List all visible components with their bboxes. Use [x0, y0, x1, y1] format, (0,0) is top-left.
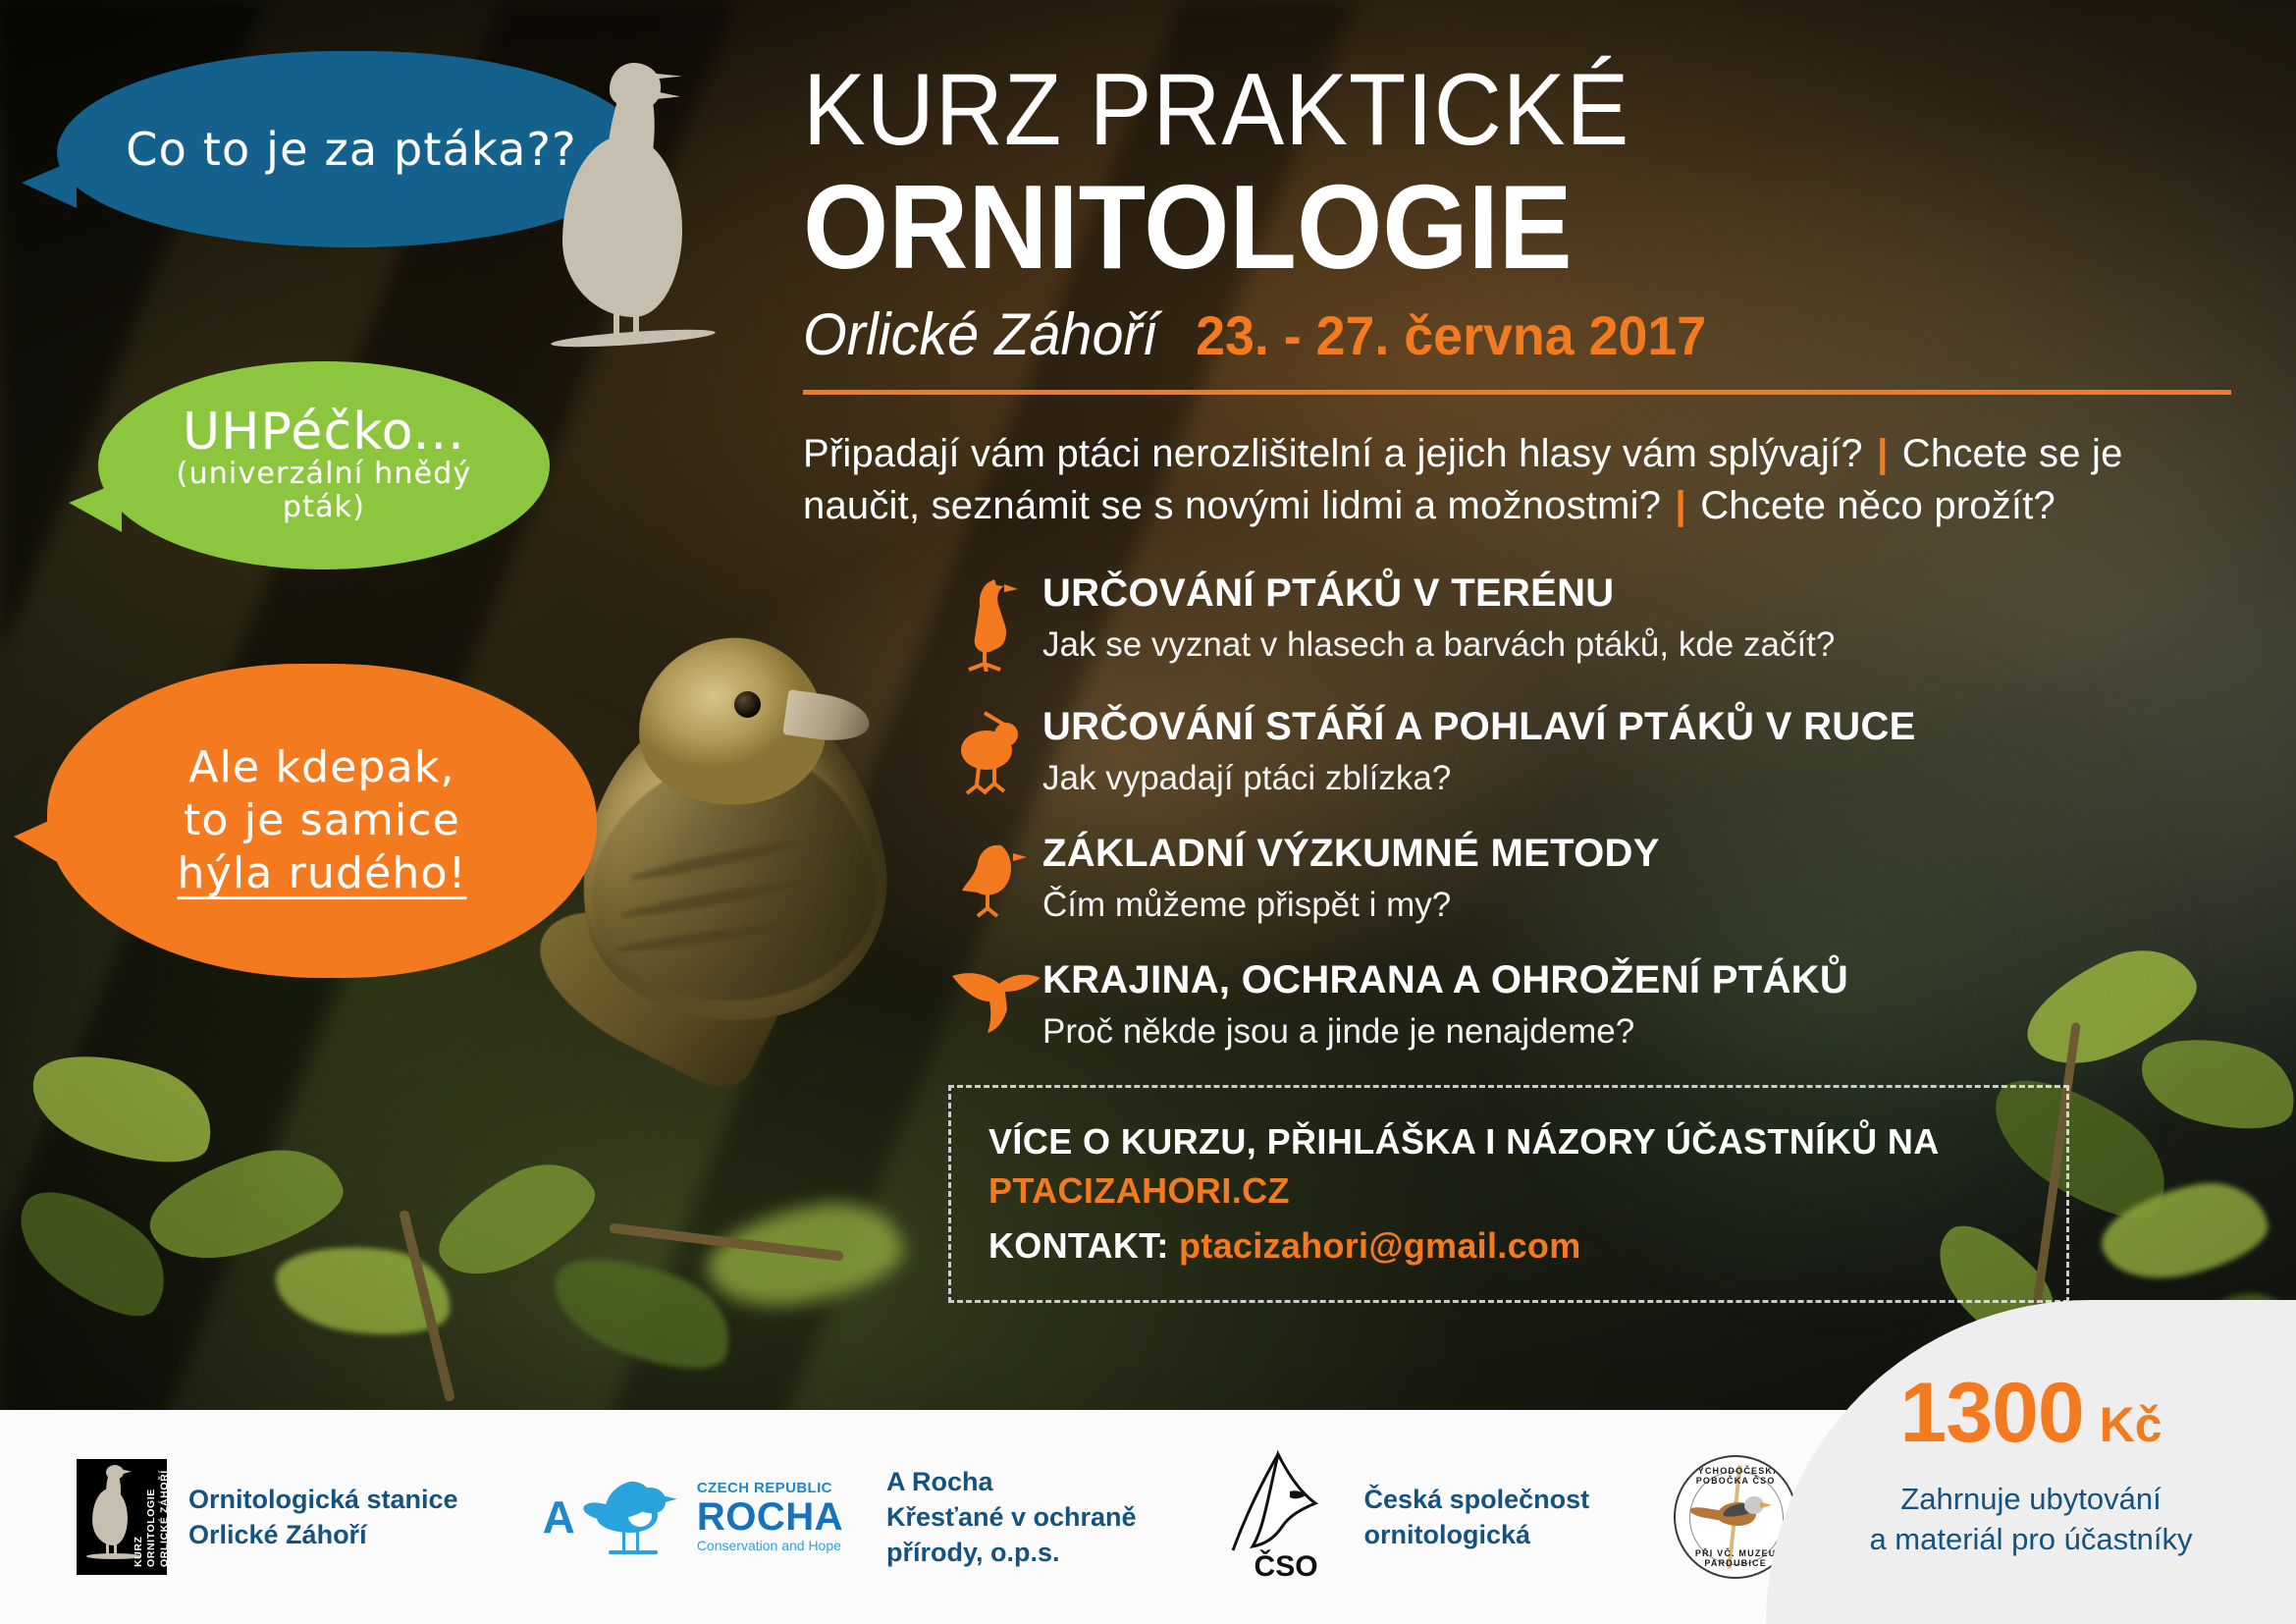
mark-line-1: CZECH REPUBLIC	[697, 1481, 843, 1495]
contact-website[interactable]: PTACIZAHORI.CZ	[988, 1170, 2029, 1212]
content-column: KURZ PRAKTICKÉ ORNITOLOGIE Orlické Záhoř…	[803, 59, 2236, 1303]
mark-vertical-text: KURZ ORNITOLOGIE ORLICKÉ ZÁHOŘÍ	[133, 1467, 162, 1567]
mark-bird-leg	[622, 1529, 625, 1552]
bubble-body: Ale kdepak, to je samice hýla rudého!	[47, 664, 597, 978]
bubble-green-line2: (univerzální hnědý	[177, 458, 472, 492]
a-rocha-wordmark: CZECH REPUBLIC ROCHA Conservation and Ho…	[697, 1481, 843, 1552]
logo-label: Česká společnost ornitologická	[1364, 1482, 1590, 1552]
lead-separator: |	[1672, 484, 1688, 527]
cso-dove-mark: ČSO	[1221, 1448, 1329, 1586]
bird-standing-icon	[948, 571, 1042, 672]
title-block: KURZ PRAKTICKÉ ORNITOLOGIE Orlické Záhoř…	[803, 59, 2236, 368]
medallion-bearded-reedling-icon	[1701, 1492, 1772, 1538]
mark-bird-beak	[1760, 1502, 1772, 1508]
bird-wader-icon	[948, 705, 1042, 795]
logo-label: A Rocha Křesťané v ochraně přírody, o.p.…	[886, 1464, 1137, 1571]
feature-item: KRAJINA, OCHRANA A OHROŽENÍ PTÁKŮ Proč n…	[948, 958, 2236, 1052]
lead-paragraph: Připadají vám ptáci nerozlišitelní a jej…	[803, 428, 2197, 532]
bird-eye	[734, 691, 761, 718]
bubble-orange-line3: hýla rudého!	[178, 847, 467, 900]
mark-line-3: Conservation and Hope	[697, 1539, 843, 1552]
bubble-orange-line1: Ale kdepak,	[188, 741, 454, 794]
logo-a-rocha: A CZECH REPUBLIC ROCHA	[543, 1464, 1137, 1571]
feature-item: URČOVÁNÍ STÁŘÍ A POHLAVÍ PTÁKŮ V RUCE Ja…	[948, 705, 2236, 798]
contact-box: VÍCE O KURZU, PŘIHLÁŠKA I NÁZORY ÚČASTNÍ…	[948, 1085, 2069, 1303]
event-dates: 23. - 27. června 2017	[1196, 303, 1706, 367]
bubble-blue-text: Co to je za ptáka??	[126, 126, 576, 173]
contact-email-row: KONTAKT: ptacizahori@gmail.com	[988, 1225, 2029, 1267]
mark-letter-a: A	[543, 1490, 575, 1543]
a-rocha-bird-icon	[579, 1472, 689, 1562]
mark-line-2: ROCHA	[697, 1497, 843, 1537]
medallion-arc-top-text: VÝCHODOČESKÁ POBOČKA ČSO	[1676, 1466, 1795, 1486]
contact-email[interactable]: ptacizahori@gmail.com	[1179, 1225, 1581, 1266]
footer: KURZ ORNITOLOGIE ORLICKÉ ZÁHOŘÍ Ornitolo…	[0, 1410, 2296, 1624]
feature-subtitle: Proč někde jsou a jinde je nenajdeme?	[1042, 1012, 2236, 1052]
mark-bird-leg	[636, 1529, 639, 1552]
silhouette-head	[610, 63, 661, 108]
poster-root: Co to je za ptáka?? UHPéčko... (univerzá…	[0, 0, 2296, 1624]
orange-divider	[803, 390, 2231, 395]
mark-bird-beak	[120, 1469, 132, 1475]
feature-item: URČOVÁNÍ PTÁKŮ V TERÉNU Jak se vyznat v …	[948, 571, 2236, 672]
bird-perched-icon	[948, 832, 1042, 920]
contact-line-1: VÍCE O KURZU, PŘIHLÁŠKA I NÁZORY ÚČASTNÍ…	[988, 1121, 2029, 1163]
price-amount: 1300	[1899, 1365, 2083, 1462]
logo-label: Ornitologická stanice Orlické Záhoří	[188, 1482, 458, 1552]
contact-email-label: KONTAKT:	[988, 1225, 1169, 1266]
os-orlicke-zahori-mark: KURZ ORNITOLOGIE ORLICKÉ ZÁHOŘÍ	[77, 1459, 167, 1575]
silhouette-leg	[614, 295, 619, 338]
feature-list: URČOVÁNÍ PTÁKŮ V TERÉNU Jak se vyznat v …	[948, 571, 2236, 1052]
bubble-green-line1: UHPéčko...	[183, 406, 465, 458]
speech-bubble-green: UHPéčko... (univerzální hnědý pták)	[98, 361, 550, 569]
title-line-1: KURZ PRAKTICKÉ	[803, 59, 2121, 161]
speech-bubble-orange: Ale kdepak, to je samice hýla rudého!	[47, 664, 597, 978]
header-bird-silhouette-icon	[543, 59, 739, 353]
bird-raptor-icon	[948, 958, 1042, 1037]
feature-heading: ZÁKLADNÍ VÝZKUMNÉ METODY	[1042, 832, 2236, 876]
mark-bird-head	[636, 1488, 666, 1513]
feature-heading: URČOVÁNÍ STÁŘÍ A POHLAVÍ PTÁKŮ V RUCE	[1042, 705, 2236, 749]
feature-heading: URČOVÁNÍ PTÁKŮ V TERÉNU	[1042, 571, 2236, 616]
bubble-body: UHPéčko... (univerzální hnědý pták)	[98, 361, 550, 569]
subtitle-row: Orlické Záhoří 23. - 27. června 2017	[803, 300, 2179, 368]
feature-text: URČOVÁNÍ PTÁKŮ V TERÉNU Jak se vyznat v …	[1042, 571, 2236, 665]
feature-subtitle: Jak vypadají ptáci zblízka?	[1042, 759, 2236, 798]
logo-orlicke-zahori: KURZ ORNITOLOGIE ORLICKÉ ZÁHOŘÍ Ornitolo…	[77, 1459, 458, 1575]
event-place: Orlické Záhoří	[803, 300, 1158, 368]
a-rocha-mark: A CZECH REPUBLIC ROCHA	[543, 1472, 843, 1562]
feature-text: ZÁKLADNÍ VÝZKUMNÉ METODY Čím můžeme přis…	[1042, 832, 2236, 925]
lead-part-3: Chcete něco prožít?	[1700, 484, 2056, 527]
title-line-2: ORNITOLOGIE	[803, 167, 2121, 287]
feature-text: KRAJINA, OCHRANA A OHROŽENÍ PTÁKŮ Proč n…	[1042, 958, 2236, 1052]
cso-label: ČSO	[1255, 1550, 1318, 1584]
price-note: Zahrnuje ubytování a materiál pro účastn…	[1869, 1480, 2192, 1559]
feature-subtitle: Jak se vyznat v hlasech a barvách ptáků,…	[1042, 625, 2236, 665]
price-amount-row: 1300 Kč	[1899, 1365, 2162, 1462]
feature-text: URČOVÁNÍ STÁŘÍ A POHLAVÍ PTÁKŮ V RUCE Ja…	[1042, 705, 2236, 798]
mark-bird-ground	[609, 1550, 658, 1554]
mark-bird-beak	[662, 1495, 677, 1503]
bubble-orange-line2: to je samice	[184, 794, 460, 847]
feature-item: ZÁKLADNÍ VÝZKUMNÉ METODY Čím můžeme přis…	[948, 832, 2236, 925]
bubble-green-line3: pták)	[283, 491, 365, 525]
price-currency: Kč	[2100, 1396, 2163, 1453]
logo-cso: ČSO Česká společnost ornitologická	[1221, 1448, 1590, 1586]
lead-part-1: Připadají vám ptáci nerozlišitelní a jej…	[803, 432, 1863, 475]
feature-subtitle: Čím můžeme přispět i my?	[1042, 886, 2236, 925]
lead-separator: |	[1874, 432, 1891, 475]
feature-heading: KRAJINA, OCHRANA A OHROŽENÍ PTÁKŮ	[1042, 958, 2236, 1002]
